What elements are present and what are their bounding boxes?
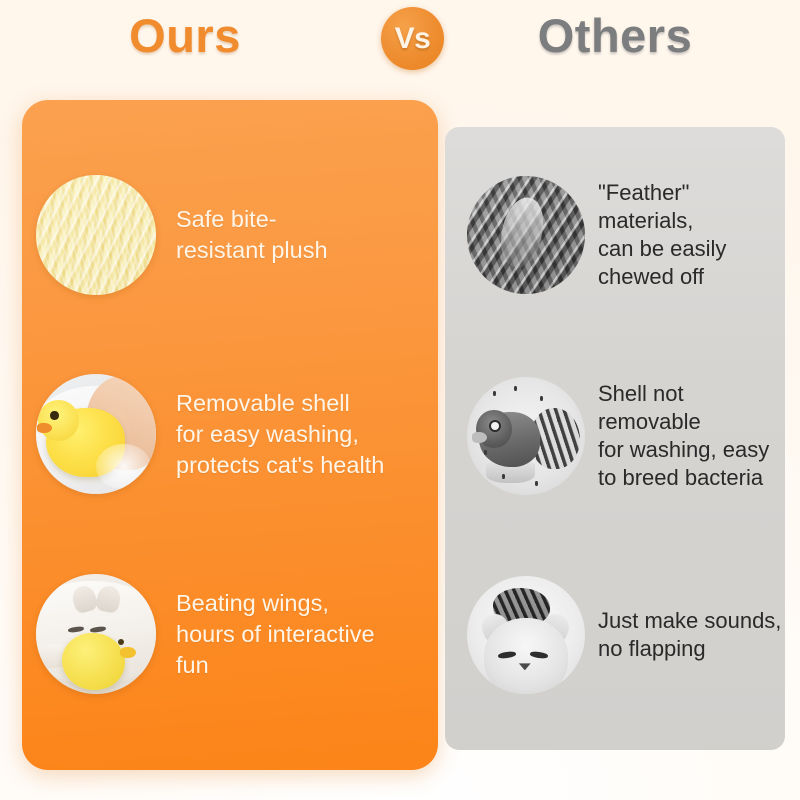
ours-row-2: Removable shell for easy washing, protec… (36, 373, 430, 495)
others-row-2: Shell not removable for washing, easy to… (467, 377, 783, 495)
chick-toy-being-washed (36, 374, 156, 494)
others-row-3-caption: Just make sounds, no flapping (598, 607, 783, 663)
yellow-plush-fur-swatch (36, 175, 156, 295)
comparison-infographic: Ours Vs Others Safe bite- resistant plus… (0, 0, 800, 800)
others-row-1: "Feather" materials, can be easily chewe… (467, 176, 783, 294)
grayscale-feather-texture (467, 176, 585, 294)
ours-title: Ours (0, 4, 370, 68)
others-row-3: Just make sounds, no flapping (467, 576, 783, 694)
ours-row-3: Beating wings, hours of interactive fun (36, 573, 430, 695)
ours-row-2-caption: Removable shell for easy washing, protec… (176, 388, 430, 481)
ours-row-1-caption: Safe bite- resistant plush (176, 204, 430, 266)
grayscale-cat-with-bird-toy (467, 576, 585, 694)
header: Ours Vs Others (0, 0, 800, 86)
grayscale-bird-toy (467, 377, 585, 495)
vs-badge: Vs (381, 7, 444, 70)
ours-row-1: Safe bite- resistant plush (36, 175, 430, 295)
cat-playing-with-chick-toy (36, 574, 156, 694)
others-panel: "Feather" materials, can be easily chewe… (445, 127, 785, 750)
vs-badge-label: Vs (395, 24, 431, 54)
others-title: Others (440, 4, 790, 68)
others-row-1-caption: "Feather" materials, can be easily chewe… (598, 179, 783, 291)
ours-row-3-caption: Beating wings, hours of interactive fun (176, 588, 430, 681)
others-row-2-caption: Shell not removable for washing, easy to… (598, 380, 783, 492)
